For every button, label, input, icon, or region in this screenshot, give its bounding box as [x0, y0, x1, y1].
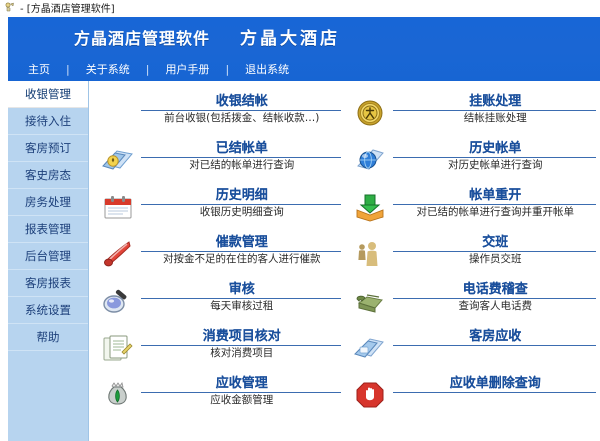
menu-item-history-detail[interactable]: 历史明细 收银历史明细查询: [97, 187, 345, 234]
blue-globe-book-icon: [349, 140, 391, 180]
people-icon: [349, 234, 391, 274]
menu-columns: 收银结帐 前台收银(包括拨金、结帐收款…): [89, 93, 600, 422]
title-underline: [393, 204, 597, 205]
money-bag-icon: [97, 375, 139, 415]
nav-exit[interactable]: 退出系统: [243, 61, 291, 77]
window-titlebar: - [方晶酒店管理软件]: [0, 0, 600, 16]
nav-about[interactable]: 关于系统: [84, 61, 132, 77]
title-underline: [141, 298, 341, 299]
title-underline: [393, 251, 597, 252]
sidebar-item-reports[interactable]: 报表管理: [8, 216, 88, 243]
gold-coin-icon: [349, 93, 391, 133]
menu-column-left: 收银结帐 前台收银(包括拨金、结帐收款…): [89, 93, 345, 422]
title-underline: [393, 298, 597, 299]
none-icon: [97, 93, 139, 133]
menu-item-consumption-check[interactable]: 消费项目核对 核对消费项目: [97, 328, 345, 375]
menu-item-desc: 前台收银(包括拨金、结帐收款…): [139, 112, 345, 125]
menu-item-title[interactable]: 帐单重开: [391, 188, 600, 203]
documents-icon: [97, 328, 139, 368]
app-header: 方晶酒店管理软件 方晶大酒店 主页 | 关于系统 | 用户手册 | 退出系统: [8, 17, 600, 81]
sidebar-item-settings[interactable]: 系统设置: [8, 297, 88, 324]
header-titles: 方晶酒店管理软件 方晶大酒店: [8, 17, 600, 57]
menu-item-body: 收银结帐 前台收银(包括拨金、结帐收款…): [139, 93, 345, 125]
menu-item-body: 帐单重开 对已结的帐单进行查询并重开帐单: [391, 187, 600, 219]
menu-item-desc: 收银历史明细查询: [139, 206, 345, 219]
red-ledger-icon: [97, 187, 139, 227]
menu-item-desc: 核对消费项目: [139, 347, 345, 360]
menu-item-body: 历史明细 收银历史明细查询: [139, 187, 345, 219]
module-grid: 收银结帐 前台收银(包括拨金、结帐收款…): [89, 81, 600, 441]
menu-item-desc: 对已结的帐单进行查询并重开帐单: [391, 206, 600, 219]
menu-item-desc: 结帐挂账处理: [391, 112, 600, 125]
window-title: - [方晶酒店管理软件]: [20, 0, 115, 15]
menu-item-desc: 对按金不足的在住的客人进行催款: [139, 253, 345, 266]
nav-home[interactable]: 主页: [26, 61, 52, 77]
green-inbox-icon: [349, 187, 391, 227]
nav-manual[interactable]: 用户手册: [163, 61, 211, 77]
menu-item-title[interactable]: 交班: [391, 235, 600, 250]
menu-item-title[interactable]: 客房应收: [391, 329, 600, 344]
menu-item-desc: 对历史帐单进行查询: [391, 159, 600, 172]
menu-item-body: 交班 操作员交班: [391, 234, 600, 266]
stop-hand-icon: [349, 375, 391, 415]
sidebar-menu: 收银管理 接待入住 客房预订 客史房态 房务处理 报表管理 后台管理 客房报表 …: [8, 81, 89, 441]
sidebar-item-checkin[interactable]: 接待入住: [8, 108, 88, 135]
menu-item-desc: 查询客人电话费: [391, 300, 600, 313]
menu-item-phone-fee-audit[interactable]: 电话费稽查 查询客人电话费: [349, 281, 600, 328]
menu-item-title[interactable]: 挂账处理: [391, 94, 600, 109]
sidebar-item-guest-history[interactable]: 客史房态: [8, 162, 88, 189]
title-underline: [141, 204, 341, 205]
magnifier-icon: [97, 281, 139, 321]
blue-folder-icon: [349, 328, 391, 368]
menu-item-title[interactable]: 应收单删除查询: [391, 376, 600, 391]
menu-item-body: 催款管理 对按金不足的在住的客人进行催款: [139, 234, 345, 266]
menu-item-body: 已结帐单 对已结的帐单进行查询: [139, 140, 345, 172]
menu-item-cashier-settlement[interactable]: 收银结帐 前台收银(包括拨金、结帐收款…): [97, 93, 345, 140]
title-underline: [393, 345, 597, 346]
main-navigation: 主页 | 关于系统 | 用户手册 | 退出系统: [8, 57, 600, 81]
menu-item-body: 应收管理 应收金额管理: [139, 375, 345, 407]
menu-item-settled-bills[interactable]: 已结帐单 对已结的帐单进行查询: [97, 140, 345, 187]
menu-item-title[interactable]: 催款管理: [139, 235, 345, 250]
menu-item-body: 应收单删除查询: [391, 375, 600, 393]
app-icon: [4, 2, 15, 13]
software-title: 方晶酒店管理软件: [74, 25, 210, 49]
sidebar-item-help[interactable]: 帮助: [8, 324, 88, 351]
sidebar-item-room-reports[interactable]: 客房报表: [8, 270, 88, 297]
sidebar-item-reservation[interactable]: 客房预订: [8, 135, 88, 162]
menu-item-reopen-bill[interactable]: 帐单重开 对已结的帐单进行查询并重开帐单: [349, 187, 600, 234]
menu-item-title[interactable]: 审核: [139, 282, 345, 297]
menu-item-audit[interactable]: 审核 每天审核过租: [97, 281, 345, 328]
application-window: - [方晶酒店管理软件] 方晶酒店管理软件 方晶大酒店 主页 | 关于系统 | …: [0, 0, 600, 441]
content-area: 收银管理 接待入住 客房预订 客史房态 房务处理 报表管理 后台管理 客房报表 …: [8, 81, 600, 441]
title-underline: [393, 157, 597, 158]
title-underline: [141, 392, 341, 393]
menu-item-desc: 应收金额管理: [139, 394, 345, 407]
menu-item-body: 消费项目核对 核对消费项目: [139, 328, 345, 360]
hotel-title: 方晶大酒店: [240, 24, 340, 49]
blue-card-icon: [97, 140, 139, 180]
menu-item-room-receivable[interactable]: 客房应收: [349, 328, 600, 375]
red-megaphone-icon: [97, 234, 139, 274]
menu-item-title[interactable]: 应收管理: [139, 376, 345, 391]
menu-item-title[interactable]: 电话费稽查: [391, 282, 600, 297]
menu-item-receivable-management[interactable]: 应收管理 应收金额管理: [97, 375, 345, 422]
title-underline: [141, 251, 341, 252]
menu-item-shift-handover[interactable]: 交班 操作员交班: [349, 234, 600, 281]
menu-item-title[interactable]: 消费项目核对: [139, 329, 345, 344]
menu-item-receivable-delete-query[interactable]: 应收单删除查询: [349, 375, 600, 422]
menu-item-body: 历史帐单 对历史帐单进行查询: [391, 140, 600, 172]
sidebar-item-backoffice[interactable]: 后台管理: [8, 243, 88, 270]
sidebar-item-housekeeping[interactable]: 房务处理: [8, 189, 88, 216]
menu-item-body: 客房应收: [391, 328, 600, 346]
nav-separator-2: |: [132, 63, 164, 76]
telephone-icon: [349, 281, 391, 321]
menu-item-title[interactable]: 已结帐单: [139, 141, 345, 156]
title-underline: [141, 345, 341, 346]
menu-item-body: 挂账处理 结帐挂账处理: [391, 93, 600, 125]
title-underline: [393, 110, 597, 111]
menu-item-desc: 每天审核过租: [139, 300, 345, 313]
menu-column-right: 挂账处理 结帐挂账处理: [345, 93, 600, 422]
title-underline: [141, 157, 341, 158]
title-underline: [141, 110, 341, 111]
nav-separator-3: |: [211, 63, 243, 76]
title-underline: [393, 392, 597, 393]
menu-item-desc: 操作员交班: [391, 253, 600, 266]
menu-item-title[interactable]: 历史明细: [139, 188, 345, 203]
menu-item-title[interactable]: 历史帐单: [391, 141, 600, 156]
nav-separator-1: |: [52, 63, 84, 76]
menu-item-history-bills[interactable]: 历史帐单 对历史帐单进行查询: [349, 140, 600, 187]
menu-item-body: 审核 每天审核过租: [139, 281, 345, 313]
sidebar-item-cashier[interactable]: 收银管理: [8, 81, 88, 108]
menu-item-desc: 对已结的帐单进行查询: [139, 159, 345, 172]
menu-item-body: 电话费稽查 查询客人电话费: [391, 281, 600, 313]
menu-item-credit-account[interactable]: 挂账处理 结帐挂账处理: [349, 93, 600, 140]
menu-item-title[interactable]: 收银结帐: [139, 94, 345, 109]
menu-item-payment-reminder[interactable]: 催款管理 对按金不足的在住的客人进行催款: [97, 234, 345, 281]
